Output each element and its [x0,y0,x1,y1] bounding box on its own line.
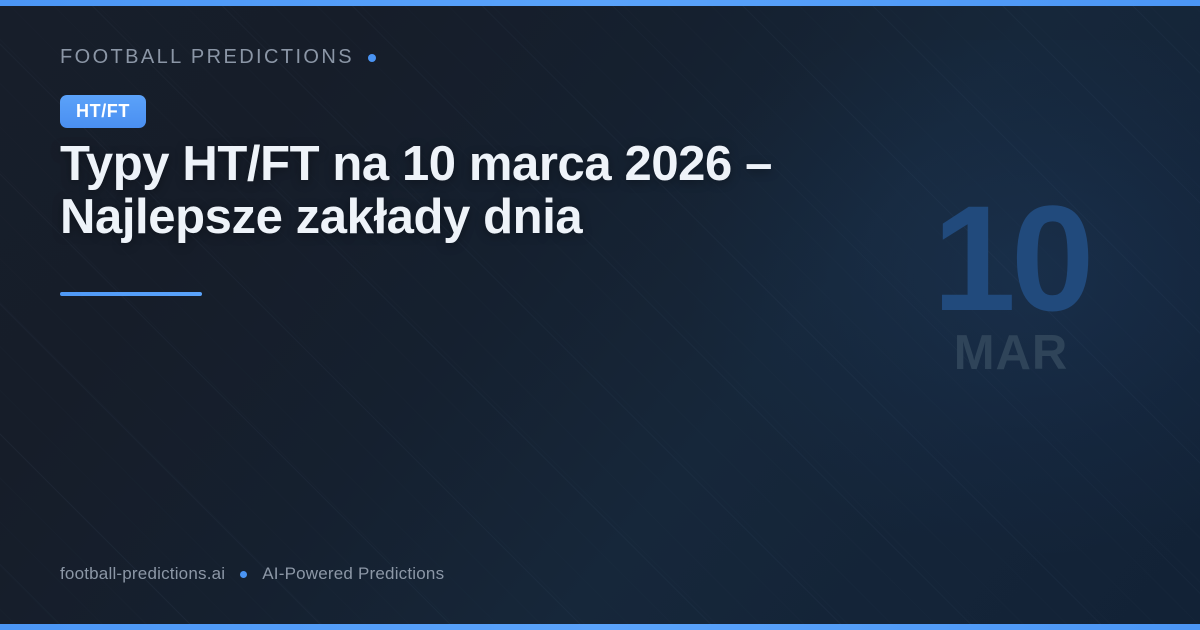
accent-underline [60,292,202,296]
eyebrow: FOOTBALL PREDICTIONS [60,46,376,69]
date-month: MAR [886,329,1136,378]
footer: football-predictions.ai AI-Powered Predi… [60,564,444,584]
bullet-dot-icon [240,571,247,578]
footer-tagline: AI-Powered Predictions [262,564,444,584]
card-content: FOOTBALL PREDICTIONS HT/FT Typy HT/FT na… [60,0,1140,630]
category-badge[interactable]: HT/FT [60,95,146,128]
bullet-dot-icon [368,54,376,62]
footer-site-name[interactable]: football-predictions.ai [60,564,225,584]
date-day: 10 [886,200,1136,317]
eyebrow-label: FOOTBALL PREDICTIONS [60,46,354,69]
page-title: Typy HT/FT na 10 marca 2026 – Najlepsze … [60,138,890,244]
og-share-card: FOOTBALL PREDICTIONS HT/FT Typy HT/FT na… [0,0,1200,630]
date-block: 10 MAR [886,200,1136,378]
